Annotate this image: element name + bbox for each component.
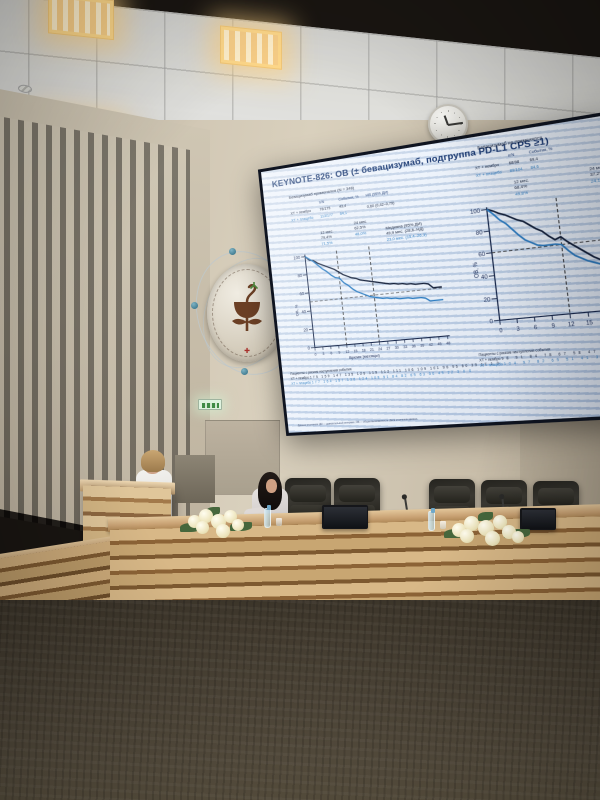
svg-text:33: 33	[403, 345, 408, 350]
svg-text:24: 24	[378, 347, 383, 352]
bouquet-bloom	[216, 524, 230, 538]
water-bottle	[264, 508, 271, 528]
slide-left-panel: Бевацизумаб применялся (N = 348) n/N Соб…	[270, 173, 466, 413]
left-annotation-24mo: 24 мес. 62,5% 48,0%	[353, 218, 368, 236]
laptop-screen	[322, 505, 368, 529]
svg-text:40: 40	[301, 309, 307, 315]
projection-screen: KEYNOTE-826: ОВ (± бевацизумаб, подгрупп…	[261, 114, 600, 433]
water-bottle	[428, 511, 435, 531]
bouquet-bloom	[460, 529, 474, 543]
risk-arm: ХТ + плацебо	[291, 380, 311, 385]
slide-footnote: Данные отсечения: ДИ — доверительный инт…	[298, 418, 419, 428]
svg-text:21: 21	[370, 348, 375, 353]
svg-text:15: 15	[353, 349, 357, 354]
svg-text:6: 6	[534, 325, 538, 332]
arm-events: 64,1	[340, 209, 366, 218]
annot-placebo: 71,5%	[321, 239, 335, 246]
svg-text:100: 100	[470, 208, 481, 216]
annot-placebo: 48,0%	[355, 229, 369, 236]
ceiling-light-panel	[220, 25, 282, 70]
svg-text:3: 3	[322, 352, 324, 356]
bouquet-bloom	[512, 531, 524, 543]
arm-hr: 0,60 (0,42–0,79)	[366, 196, 400, 214]
svg-text:40: 40	[481, 274, 489, 281]
svg-text:15: 15	[586, 320, 594, 328]
svg-text:45: 45	[437, 342, 442, 347]
arm-n-n: 68/98	[509, 159, 528, 167]
laptop-screen	[520, 508, 556, 530]
emblem-orbit-dot	[191, 302, 198, 309]
drinking-glass	[276, 518, 282, 526]
arm-name: ХТ + плацебо	[291, 215, 319, 224]
ceiling-light-panel	[48, 0, 114, 40]
risk-arm: ХТ + плацебо	[480, 362, 503, 368]
svg-text:42: 42	[429, 342, 434, 347]
svg-text:9: 9	[338, 350, 341, 354]
carpet-floor	[0, 600, 600, 800]
svg-text:20: 20	[483, 297, 491, 304]
right-annotation-12mo: 12 мес. 68,4% 49,8%	[513, 177, 530, 196]
svg-text:80: 80	[476, 230, 484, 237]
bouquet-bloom	[196, 521, 209, 534]
svg-text:60: 60	[299, 291, 305, 297]
participant-face	[266, 479, 277, 493]
svg-text:60: 60	[478, 251, 486, 258]
svg-text:39: 39	[420, 343, 425, 348]
svg-text:12: 12	[568, 321, 576, 329]
svg-text:0: 0	[307, 345, 311, 350]
svg-text:ОВ, %: ОВ, %	[293, 304, 299, 317]
red-cross-icon: ✚	[244, 347, 250, 355]
svg-text:36: 36	[412, 344, 417, 349]
exit-sign	[198, 399, 222, 410]
svg-text:80: 80	[297, 273, 303, 279]
svg-text:100: 100	[293, 255, 301, 261]
slide-right-panel: Бевацизумаб не применялся n/N События, %…	[446, 124, 600, 399]
laptop-lid	[522, 510, 555, 529]
svg-text:0: 0	[499, 328, 503, 335]
svg-text:3: 3	[516, 326, 520, 333]
svg-text:9: 9	[551, 323, 555, 330]
left-km-plot: 10080 6040 200	[283, 233, 459, 370]
svg-text:20: 20	[303, 327, 309, 333]
svg-text:Время (месяцы): Время (месяцы)	[349, 352, 381, 360]
right-annotation-24mo: 24 мес. 37,2% 24,1%	[589, 164, 600, 184]
right-km-plot: 10080 6040 200 036 91215 182124	[457, 183, 600, 349]
svg-text:ОВ, %: ОВ, %	[472, 261, 481, 278]
svg-text:6: 6	[330, 351, 332, 355]
arm-n-n: 113/177	[320, 213, 338, 221]
svg-text:0: 0	[314, 352, 316, 356]
svg-text:48: 48	[446, 341, 451, 346]
bouquet-bloom	[485, 531, 500, 546]
svg-text:30: 30	[395, 345, 400, 350]
bowl-of-hygieia-icon	[224, 282, 270, 336]
arm-n-n: 89/104	[510, 166, 529, 174]
speaker-hair	[141, 450, 165, 472]
svg-text:12: 12	[345, 350, 349, 355]
drinking-glass	[440, 521, 446, 529]
bouquet-bloom	[232, 519, 244, 531]
laptop-lid	[324, 507, 367, 528]
svg-text:18: 18	[362, 348, 366, 353]
conference-hall-photo: ✚ KEYNOTE-826: ОВ (± бевацизумаб, подгру…	[0, 0, 600, 800]
emblem-orbit-dot	[241, 368, 248, 375]
left-annotation-12mo: 12 мес. 79,4% 71,5%	[320, 228, 335, 246]
svg-text:27: 27	[386, 346, 391, 351]
svg-text:0: 0	[489, 319, 493, 326]
emblem-orbit-dot	[229, 248, 236, 255]
